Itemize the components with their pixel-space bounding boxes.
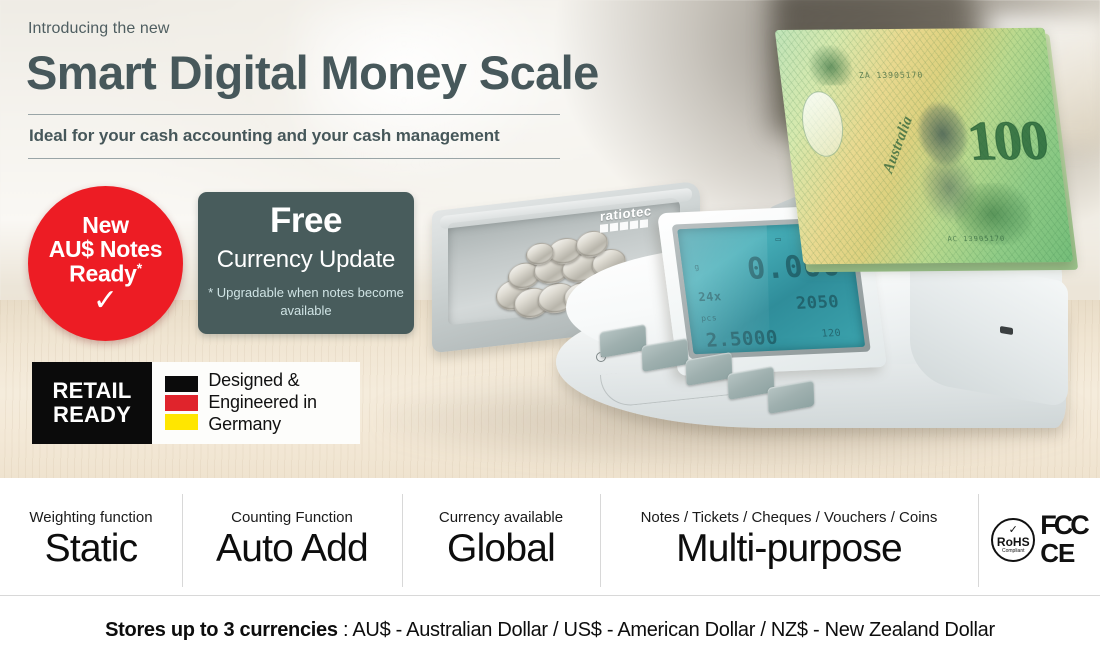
banknote-serial-bottom: AC 13905170 — [947, 235, 1006, 243]
feature-label: Weighting function — [29, 509, 152, 526]
german-flag-icon — [165, 376, 198, 430]
divider-bottom — [28, 158, 560, 159]
feature-label: Notes / Tickets / Cheques / Vouchers / C… — [641, 509, 938, 526]
retail-line-2: READY — [53, 403, 131, 427]
feature-counting: Counting Function Auto Add — [182, 478, 402, 595]
feature-value: Global — [447, 528, 555, 570]
advertisement-banner: ratiotec ▭ g 24x pcs 0.000 2050 2.5000 1… — [0, 0, 1100, 665]
banknote-emblem — [807, 45, 854, 85]
rohs-sublabel: Compliant — [1002, 549, 1025, 554]
feature-strip: Weighting function Static Counting Funct… — [0, 478, 1100, 595]
keypad-button-3[interactable] — [686, 352, 733, 386]
banknote-face: ZA 13905170 AC 13905170 Australia 100 — [775, 28, 1073, 265]
rohs-icon: ✓ RoHS Compliant — [991, 518, 1035, 562]
keypad — [592, 326, 802, 422]
free-footnote: * Upgradable when notes become available — [206, 284, 406, 319]
footer-text: Stores up to 3 currencies : AU$ - Austra… — [105, 619, 995, 642]
footer-lead: Stores up to 3 currencies — [105, 619, 338, 641]
retail-ready-badge: RETAIL READY — [32, 362, 152, 444]
lcd-row-four: 120 — [821, 328, 842, 340]
banknote-denomination: 100 — [964, 109, 1050, 173]
badge-line-2: AU$ Notes — [28, 236, 183, 263]
badge-asterisk: * — [137, 260, 142, 276]
feature-value: Static — [45, 528, 138, 570]
banknote-serial-top: ZA 13905170 — [858, 70, 923, 79]
page-title: Smart Digital Money Scale — [26, 48, 599, 97]
feature-value: Auto Add — [216, 528, 368, 570]
retail-line-1: RETAIL — [52, 379, 131, 403]
lcd-battery-icon: ▭ — [775, 235, 782, 245]
check-icon: ✓ — [28, 286, 183, 316]
feature-weighting: Weighting function Static — [0, 478, 182, 595]
tagline-text: Ideal for your cash accounting and your … — [29, 126, 500, 146]
feature-value: Multi-purpose — [676, 528, 902, 570]
keypad-button-2[interactable] — [642, 338, 689, 372]
lcd-row-two: 2050 — [795, 292, 841, 314]
free-currency-update-panel: Free Currency Update * Upgradable when n… — [198, 192, 414, 334]
rohs-label: RoHS — [997, 536, 1030, 549]
feature-label: Currency available — [439, 509, 563, 526]
free-title: Free — [198, 201, 414, 241]
feature-label: Counting Function — [231, 509, 353, 526]
free-subtitle: Currency Update — [198, 246, 414, 274]
made-in-germany-badge: Designed & Engineered in Germany — [152, 362, 360, 444]
badge-line-3-text: Ready — [69, 261, 137, 287]
hero-photo: ratiotec ▭ g 24x pcs 0.000 2050 2.5000 1… — [0, 0, 1100, 478]
new-notes-ready-badge: New AU$ Notes Ready* ✓ — [28, 186, 183, 341]
divider-top — [28, 114, 560, 115]
fcc-icon: FCC — [1040, 513, 1087, 538]
feature-multipurpose: Notes / Tickets / Cheques / Vouchers / C… — [600, 478, 978, 595]
footer-rest: : AU$ - Australian Dollar / US$ - Americ… — [338, 619, 995, 641]
keypad-button-1[interactable] — [600, 324, 647, 358]
germany-text: Designed & Engineered in Germany — [208, 370, 360, 436]
certification-marks: ✓ RoHS Compliant FCC CE — [978, 478, 1100, 595]
australian-100-banknote: ZA 13905170 AC 13905170 Australia 100 — [775, 28, 1073, 265]
ce-icon: CE — [1040, 541, 1074, 566]
kicker-text: Introducing the new — [28, 20, 170, 38]
cert-column: FCC CE — [1040, 513, 1087, 566]
footer-bar: Stores up to 3 currencies : AU$ - Austra… — [0, 596, 1100, 665]
badge-line-1: New — [28, 212, 183, 239]
feature-currency: Currency available Global — [402, 478, 600, 595]
